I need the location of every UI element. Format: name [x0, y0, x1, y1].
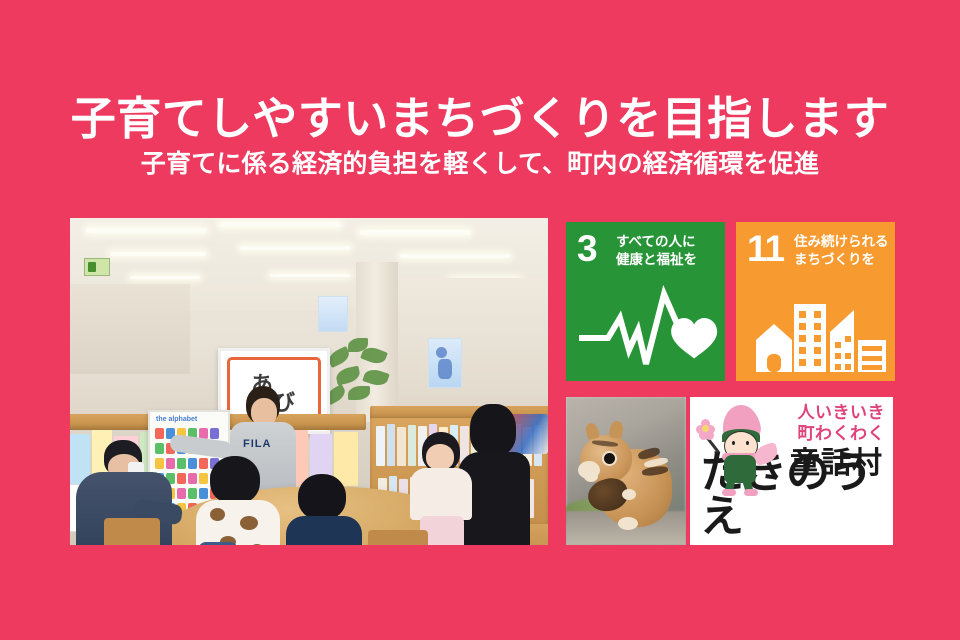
chair-foreground-right [368, 530, 428, 545]
sdg-11-number: 11 [747, 230, 784, 267]
child-center [194, 456, 284, 545]
child-right [286, 474, 366, 545]
slide-canvas: 子育てしやすいまちづくりを目指します 子育てに係る経済的負担を軽くして、町内の経… [0, 0, 960, 640]
sdg-goal-3: 3 すべての人に 健康と福祉を [566, 222, 725, 381]
wall-poster-2 [318, 296, 348, 332]
town-logo: 人いきいき 町わくわく 童話村 たきのうえ [690, 397, 893, 545]
heartbeat-heart-icon [566, 278, 725, 381]
exit-sign-icon [84, 258, 110, 276]
chipmunk-photo [566, 397, 686, 545]
sdg-goal-11: 11 住み続けられる まちづくりを [736, 222, 895, 381]
potted-plant [322, 338, 396, 414]
child-girl [408, 432, 474, 545]
sdg-11-title: 住み続けられる まちづくりを [794, 233, 889, 269]
library-photo: あ び そ [70, 218, 548, 545]
chair-foreground-left [104, 518, 160, 545]
page-subtitle: 子育てに係る経済的負担を軽くして、町内の経済循環を促進 [0, 152, 960, 177]
mascot-fairy-icon [702, 405, 780, 491]
logo-tagline: 人いきいき 町わくわく [798, 403, 886, 444]
sdg-3-number: 3 [577, 230, 597, 267]
wall-poster [428, 338, 462, 388]
headline-block: 子育てしやすいまちづくりを目指します 子育てに係る経済的負担を軽くして、町内の経… [0, 96, 960, 177]
city-buildings-icon [736, 278, 895, 381]
sdg-3-title: すべての人に 健康と福祉を [616, 233, 697, 269]
chipmunk-eye [604, 453, 615, 464]
page-title: 子育てしやすいまちづくりを目指します [0, 96, 960, 141]
